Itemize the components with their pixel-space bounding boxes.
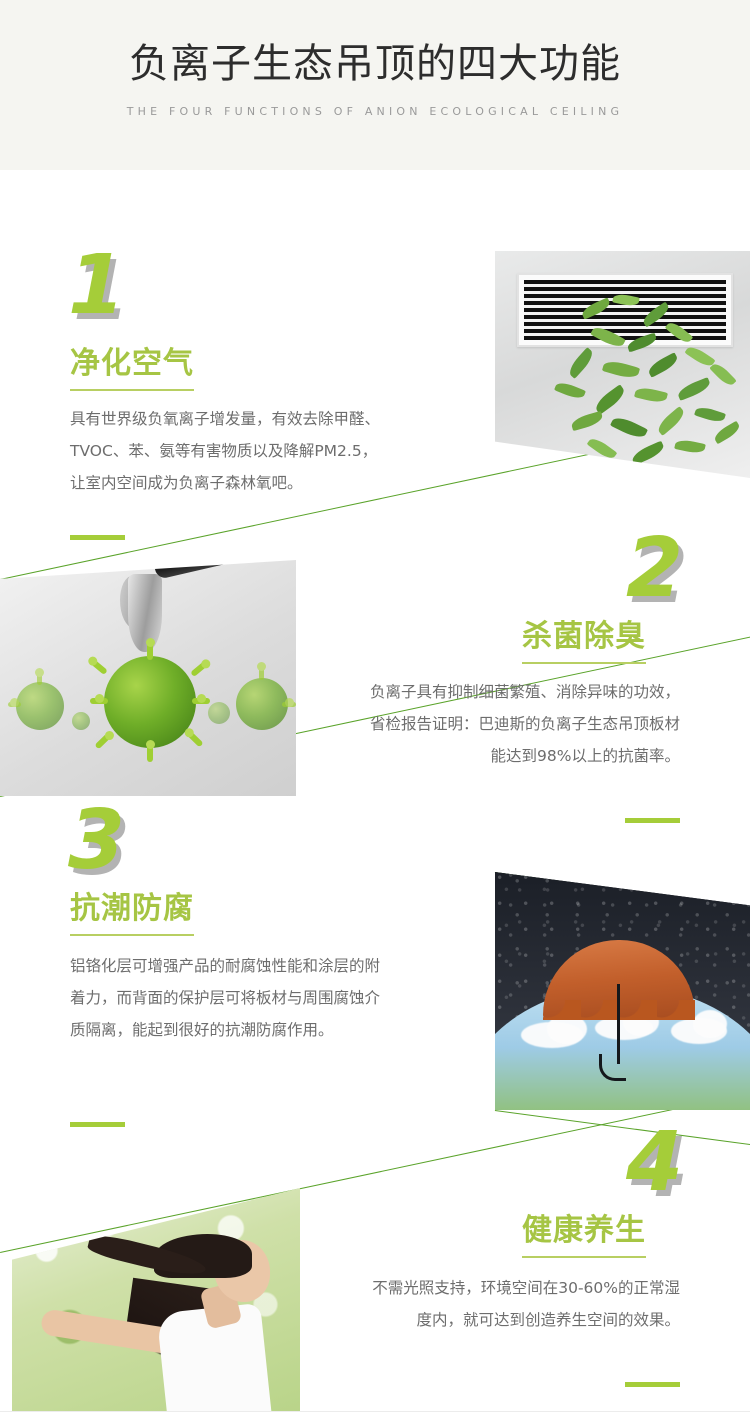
virus-spike (259, 666, 264, 680)
hammer-virus-illustration (0, 560, 296, 796)
virus-spike (8, 702, 21, 707)
virus-spike (94, 733, 111, 750)
section-heading-3: 抗潮防腐 (70, 890, 194, 936)
page-title: 负离子生态吊顶的四大功能 (0, 40, 750, 88)
hammer-head (128, 574, 162, 652)
section-image-4 (12, 1188, 300, 1412)
vent-slats (524, 280, 726, 340)
virus-spike (147, 744, 153, 762)
virus-spike (190, 661, 208, 677)
section-divider-2 (625, 818, 680, 823)
section-divider-4 (625, 1382, 680, 1387)
section-heading-2: 杀菌除臭 (522, 618, 646, 664)
section-heading-1: 净化空气 (70, 345, 194, 391)
infographic-page: 负离子生态吊顶的四大功能 THE FOUR FUNCTIONS OF ANION… (0, 0, 750, 1412)
section-body-4: 不需光照支持，环境空间在30-60%的正常湿度内，就可达到创造养生空间的效果。 (362, 1272, 680, 1336)
virus-spike (37, 672, 42, 685)
section-body-3: 铝铬化层可增强产品的耐腐蚀性能和涂层的附着力，而背面的保护层可将板材与周围腐蚀介… (70, 950, 388, 1046)
diagonal-accent-line-5 (495, 1110, 750, 1146)
virus-spike (90, 698, 108, 704)
section-number-2: 2 (626, 528, 681, 610)
virus-main (104, 656, 196, 748)
section-body-1: 具有世界级负氧离子增发量，有效去除甲醛、TVOC、苯、氨等有害物质以及降解PM2… (70, 403, 388, 499)
virus-spike (186, 731, 203, 748)
virus-spike (282, 702, 296, 707)
cloud (693, 1010, 727, 1038)
virus-spike (147, 642, 153, 660)
umbrella-rain-illustration (495, 872, 750, 1110)
section-body-2: 负离子具有抑制细菌繁殖、消除异味的功效，省检报告证明：巴迪斯的负离子生态吊顶板材… (362, 676, 680, 772)
virus-tiny-right (208, 702, 230, 724)
virus-small-left (16, 682, 64, 730)
section-image-1 (495, 251, 750, 478)
woman-nature-illustration (12, 1188, 300, 1412)
section-image-3 (495, 872, 750, 1110)
section-number-4: 4 (626, 1122, 681, 1204)
section-divider-3 (70, 1122, 125, 1127)
virus-spike (90, 659, 108, 675)
virus-tiny-left (72, 712, 90, 730)
section-number-1: 1 (68, 245, 123, 327)
virus-spike (192, 698, 210, 704)
umbrella-pole (617, 984, 620, 1064)
air-vent-leaves-illustration (495, 251, 750, 478)
virus-small-right (236, 678, 288, 730)
air-vent-icon (517, 273, 733, 347)
section-divider-1 (70, 535, 125, 540)
hammer-handle (153, 560, 279, 580)
section-image-2 (0, 560, 296, 796)
section-heading-4: 健康养生 (522, 1212, 646, 1258)
page-subtitle: THE FOUR FUNCTIONS OF ANION ECOLOGICAL C… (0, 104, 750, 120)
section-number-3: 3 (68, 800, 123, 882)
